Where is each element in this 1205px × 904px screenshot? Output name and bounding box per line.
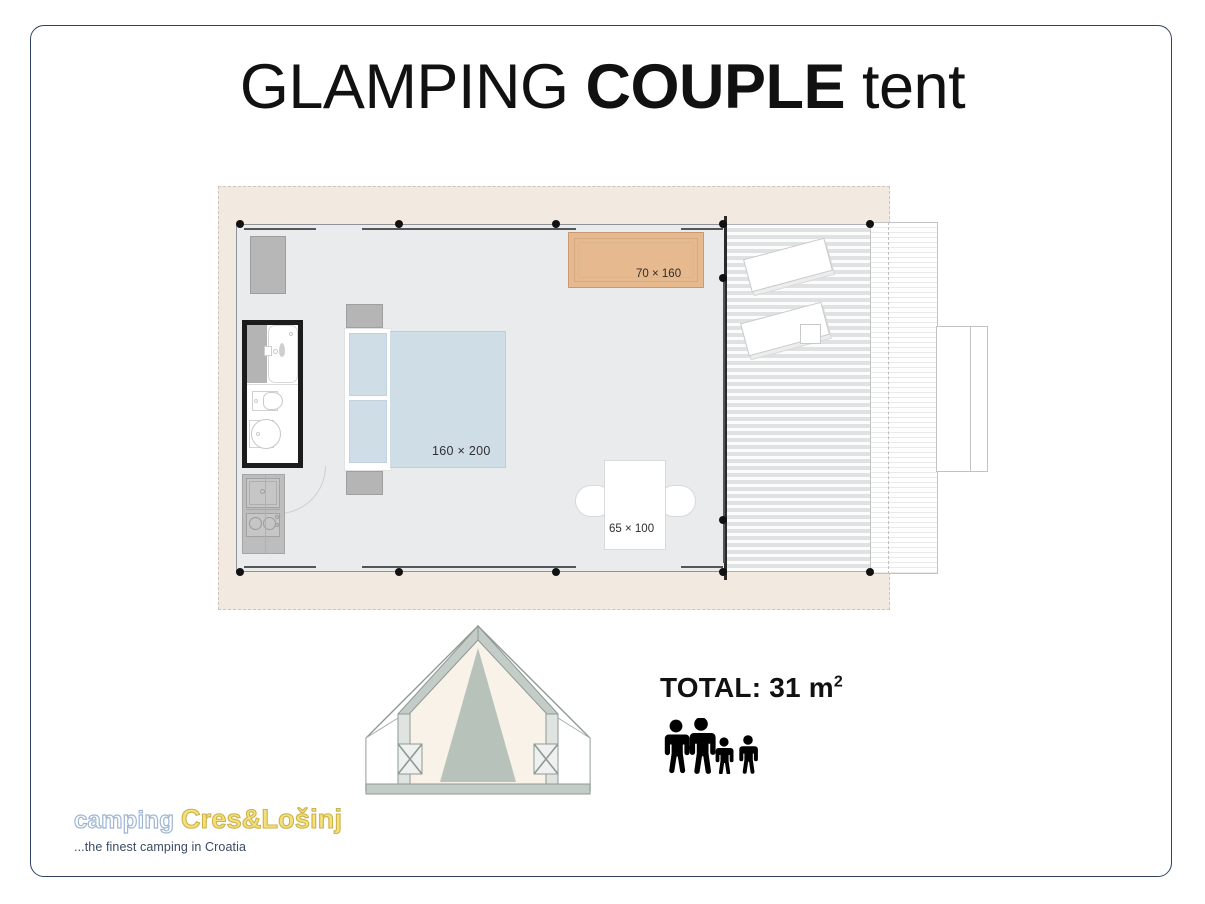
washbasin-tap [256,432,260,436]
wall-segment-bottom-1 [244,566,316,568]
shower-head-icon [279,343,285,357]
title-bold: COUPLE [585,52,845,122]
tent-flap-left [366,718,398,788]
nightstand-top [346,304,383,328]
wall-segment-top-3 [681,228,723,230]
awning-centerline [888,222,889,574]
sofa-bed-size-label: 70 × 160 [636,268,681,280]
nightstand-bottom [346,471,383,495]
toilet-bowl [263,392,283,410]
logo-camping-text: camping [74,807,181,834]
wall-segment-bottom-2 [362,566,576,568]
total-area-exponent: 2 [834,674,843,691]
pillow-left [349,333,387,396]
door-leaf [242,464,284,467]
adults-hand-link [686,746,692,749]
wall-segment-top-1 [244,228,316,230]
dining-table-size-label: 65 × 100 [609,523,654,535]
post-corner-tl [236,220,244,228]
tent-flap-right [558,718,590,788]
logo-tagline: ...the finest camping in Croatia [74,840,404,854]
page-title: GLAMPING COUPLE tent [0,56,1205,119]
adult-icon-1 [665,720,690,774]
bed-size-label: 160 × 200 [432,444,491,458]
pillow-right [349,400,387,463]
total-area-text: TOTAL: 31 m2 [660,672,920,704]
shower-tap [264,346,272,356]
awning [870,222,938,574]
wall-segment-bottom-3 [681,566,723,568]
adult-icon-2 [690,718,716,774]
wall-segment-top-2 [362,228,576,230]
kitchen-edge-line [265,475,266,553]
post-partition-upper [719,274,727,282]
dining-table [604,460,666,550]
post-corner-bl [236,568,244,576]
bathroom-divider [247,384,298,385]
stove-burner-1 [249,517,262,530]
brand-logo: camping Cres&Lošinj ...the finest campin… [74,806,404,854]
occupancy-icons [660,718,920,779]
logo-wordmark: camping Cres&Lošinj [74,806,404,833]
glamping-couple-tent-brochure: GLAMPING COUPLE tent [0,0,1205,904]
toilet-flush-dot [254,399,258,403]
post-top-1 [395,220,403,228]
post-top-3 [719,220,727,228]
title-suffix: tent [845,52,965,122]
child-icon-2 [739,735,758,774]
tent-elevation-drawing [362,622,594,802]
tent-base-platform [366,784,590,794]
post-bottom-1 [395,568,403,576]
shower-tap-knob [273,349,278,354]
stove-knob-2 [275,523,279,527]
post-bottom-3 [719,568,727,576]
wardrobe [250,236,286,294]
title-prefix: GLAMPING [240,52,586,122]
post-corner-br [866,568,874,576]
post-bottom-2 [552,568,560,576]
stove-knob-1 [275,515,279,519]
awning-extension-inner [970,326,988,472]
post-top-2 [552,220,560,228]
shower-drain [289,332,293,336]
side-table [800,324,821,344]
floor-plan: 160 × 200 70 × 160 65 × 100 [218,186,890,610]
total-block: TOTAL: 31 m2 [660,672,920,792]
kitchen-counter-line [246,509,280,510]
post-partition-lower [719,516,727,524]
logo-brand-text: Cres&Lošinj [181,804,342,834]
child-icon-1 [716,737,734,774]
post-corner-tr [866,220,874,228]
total-area-label: TOTAL: 31 m [660,672,834,703]
